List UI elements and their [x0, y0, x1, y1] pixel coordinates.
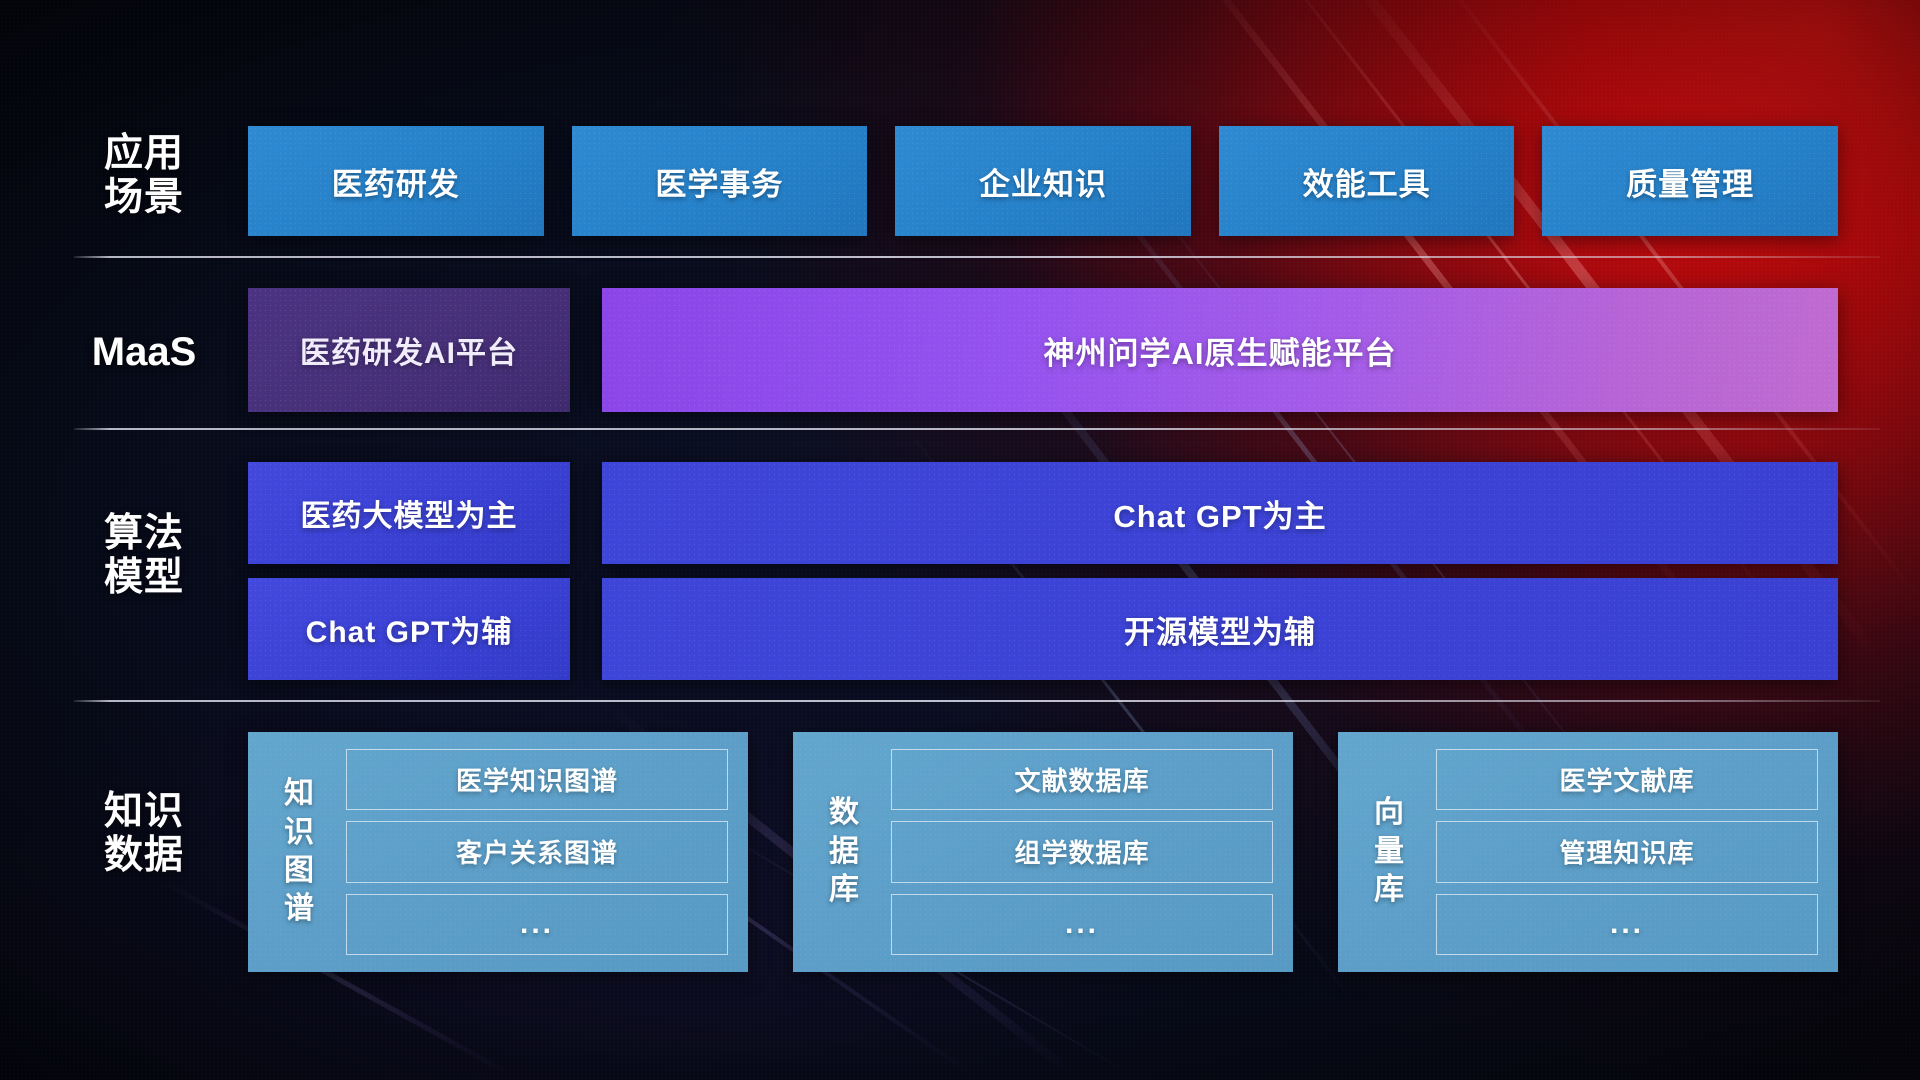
- knowledge-item-more[interactable]: ...: [891, 894, 1273, 955]
- algorithm-card-label: 医药大模型为主: [301, 491, 518, 535]
- row-label-algorithm-line2: 模型: [74, 556, 214, 600]
- divider-maas-algorithm: [74, 428, 1880, 430]
- knowledge-item-list: 文献数据库 组学数据库 ...: [891, 749, 1273, 955]
- vlabel-char: 知: [284, 775, 314, 813]
- row-label-maas: MaaS: [74, 330, 214, 375]
- knowledge-panel-vertical-label: 知 识 图 谱: [268, 749, 330, 955]
- vlabel-char: 图: [284, 852, 314, 890]
- scenario-card-quality-management[interactable]: 质量管理: [1542, 126, 1838, 236]
- knowledge-item-medical-literature-store[interactable]: 医学文献库: [1436, 749, 1818, 810]
- row-label-knowledge-line1: 知识: [74, 790, 214, 834]
- row-label-knowledge: 知识 数据: [74, 790, 214, 877]
- vlabel-char: 识: [284, 814, 314, 852]
- scenario-card-medicine-rd[interactable]: 医药研发: [248, 126, 544, 236]
- knowledge-item-literature-database[interactable]: 文献数据库: [891, 749, 1273, 810]
- row-label-algorithm: 算法 模型: [74, 512, 214, 599]
- scenario-card-label: 效能工具: [1303, 159, 1431, 204]
- knowledge-item-management-knowledge-store[interactable]: 管理知识库: [1436, 821, 1818, 882]
- row-label-scenario-line1: 应用: [74, 132, 214, 176]
- knowledge-panel-vector-store[interactable]: 向 量 库 医学文献库 管理知识库 ...: [1338, 732, 1838, 972]
- knowledge-panel-knowledge-graph[interactable]: 知 识 图 谱 医学知识图谱 客户关系图谱 ...: [248, 732, 748, 972]
- knowledge-item-list: 医学知识图谱 客户关系图谱 ...: [346, 749, 728, 955]
- algorithm-card-chatgpt-secondary[interactable]: Chat GPT为辅: [248, 578, 570, 680]
- maas-card-label: 神州问学AI原生赋能平台: [1044, 328, 1397, 373]
- algorithm-card-opensource-secondary[interactable]: 开源模型为辅: [602, 578, 1838, 680]
- knowledge-panel-list: 知 识 图 谱 医学知识图谱 客户关系图谱 ... 数 据 库 文献数据库 组学…: [248, 732, 1838, 972]
- scenario-card-label: 质量管理: [1626, 159, 1754, 204]
- vlabel-char: 谱: [284, 890, 314, 928]
- vlabel-char: 库: [829, 871, 859, 909]
- maas-card-list: 医药研发AI平台 神州问学AI原生赋能平台: [248, 288, 1838, 412]
- scenario-card-efficiency-tools[interactable]: 效能工具: [1219, 126, 1515, 236]
- vlabel-char: 库: [1374, 871, 1404, 909]
- vlabel-char: 量: [1374, 833, 1404, 871]
- algorithm-card-grid: 医药大模型为主 Chat GPT为主 Chat GPT为辅 开源模型为辅: [248, 462, 1838, 680]
- algorithm-card-label: Chat GPT为主: [1113, 491, 1326, 536]
- algorithm-card-label: Chat GPT为辅: [306, 607, 513, 651]
- maas-card-shenzhou-wenxue-platform[interactable]: 神州问学AI原生赋能平台: [602, 288, 1838, 412]
- scenario-card-enterprise-knowledge[interactable]: 企业知识: [895, 126, 1191, 236]
- scenario-card-label: 医药研发: [332, 159, 460, 204]
- maas-card-medicine-ai-platform[interactable]: 医药研发AI平台: [248, 288, 570, 412]
- knowledge-item-more[interactable]: ...: [346, 894, 728, 955]
- knowledge-item-customer-relation-graph[interactable]: 客户关系图谱: [346, 821, 728, 882]
- architecture-diagram: 应用 场景 医药研发 医学事务 企业知识 效能工具 质量管理 MaaS 医药研发…: [0, 0, 1920, 1080]
- knowledge-panel-vertical-label: 向 量 库: [1358, 749, 1420, 955]
- knowledge-item-omics-database[interactable]: 组学数据库: [891, 821, 1273, 882]
- algorithm-card-label: 开源模型为辅: [1124, 607, 1316, 652]
- algorithm-row-primary: 医药大模型为主 Chat GPT为主: [248, 462, 1838, 564]
- maas-card-label: 医药研发AI平台: [300, 328, 518, 372]
- vlabel-char: 数: [829, 794, 859, 832]
- row-label-scenario-line2: 场景: [74, 176, 214, 220]
- row-label-algorithm-line1: 算法: [74, 512, 214, 556]
- algorithm-card-chatgpt-primary[interactable]: Chat GPT为主: [602, 462, 1838, 564]
- vlabel-char: 向: [1374, 794, 1404, 832]
- algorithm-row-secondary: Chat GPT为辅 开源模型为辅: [248, 578, 1838, 680]
- row-label-knowledge-line2: 数据: [74, 834, 214, 878]
- algorithm-card-medicine-llm-primary[interactable]: 医药大模型为主: [248, 462, 570, 564]
- divider-algorithm-knowledge: [74, 700, 1880, 702]
- knowledge-panel-vertical-label: 数 据 库: [813, 749, 875, 955]
- scenario-card-label: 医学事务: [655, 159, 783, 204]
- row-label-scenario: 应用 场景: [74, 132, 214, 219]
- knowledge-item-more[interactable]: ...: [1436, 894, 1818, 955]
- vlabel-char: 据: [829, 833, 859, 871]
- scenario-card-medical-affairs[interactable]: 医学事务: [572, 126, 868, 236]
- scenario-card-label: 企业知识: [979, 159, 1107, 204]
- knowledge-panel-database[interactable]: 数 据 库 文献数据库 组学数据库 ...: [793, 732, 1293, 972]
- knowledge-item-medical-knowledge-graph[interactable]: 医学知识图谱: [346, 749, 728, 810]
- divider-scenario-maas: [74, 256, 1880, 258]
- knowledge-item-list: 医学文献库 管理知识库 ...: [1436, 749, 1818, 955]
- scenario-card-list: 医药研发 医学事务 企业知识 效能工具 质量管理: [248, 126, 1838, 236]
